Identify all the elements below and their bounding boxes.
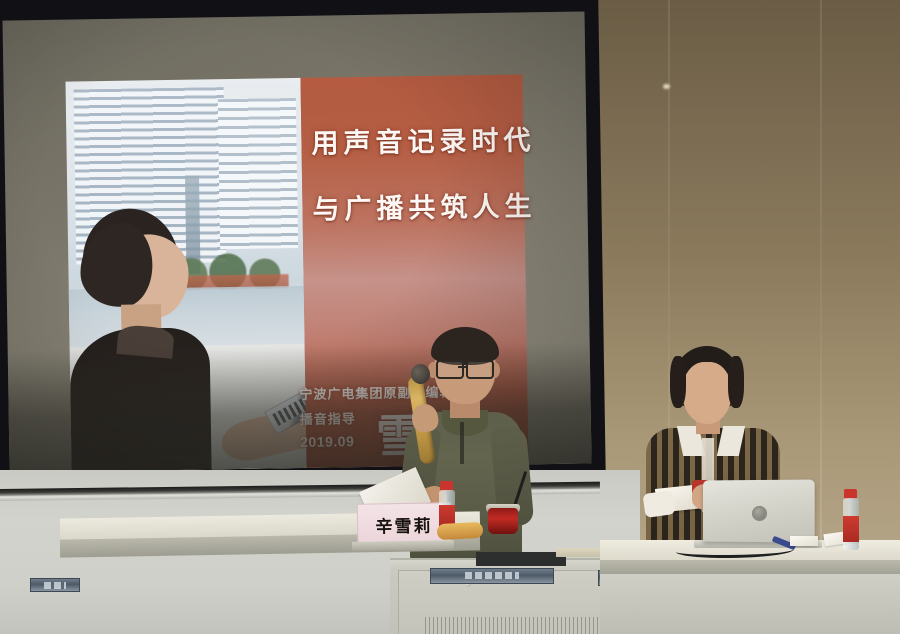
dell-logo-icon <box>752 506 767 521</box>
wall-seam-2 <box>820 0 822 560</box>
desk-papers-right-2 <box>790 536 818 546</box>
bottle-label-right <box>843 516 859 542</box>
presenter-desk-front <box>600 574 900 634</box>
speaker-glasses-bridge <box>458 366 466 368</box>
slide-title-line-1: 用声音记录时代 <box>311 118 536 161</box>
presenter-hair-left <box>670 356 686 408</box>
podium-equipment-dark <box>476 552 566 566</box>
name-placard-text: 辛雪莉 <box>375 511 432 537</box>
slide-photo <box>65 78 306 472</box>
photo-woman-profile <box>63 207 215 471</box>
laptop[interactable] <box>703 480 815 543</box>
speaker-glasses-right <box>466 360 494 379</box>
presenter-cuff <box>642 490 675 518</box>
name-placard: 辛雪莉 <box>357 502 452 546</box>
conference-microphone-base <box>488 508 518 534</box>
speaker-glasses-left <box>436 360 464 379</box>
lecture-hall-photo: 用声音记录时代 与广播共筑人生 雪莉 宁波广电集团原副总编辑 播音指导 2019… <box>0 0 900 634</box>
slide-date: 2019.09 <box>300 433 354 450</box>
name-placard-holder <box>352 540 454 551</box>
equipment-rack-slide-left[interactable] <box>430 568 554 584</box>
photo-building-right <box>218 98 298 249</box>
speaker-shirt-placket <box>460 422 464 464</box>
slide-title-line-2: 与广播共筑人生 <box>312 184 537 227</box>
wall-reflection-spot <box>663 84 670 89</box>
presenter-hair-right <box>728 356 744 408</box>
presenter-face <box>682 362 732 424</box>
equipment-rack-slide-far-left[interactable] <box>30 578 80 592</box>
desk-snack-item <box>437 522 484 540</box>
slide-subtitle-2: 播音指导 <box>300 408 356 428</box>
